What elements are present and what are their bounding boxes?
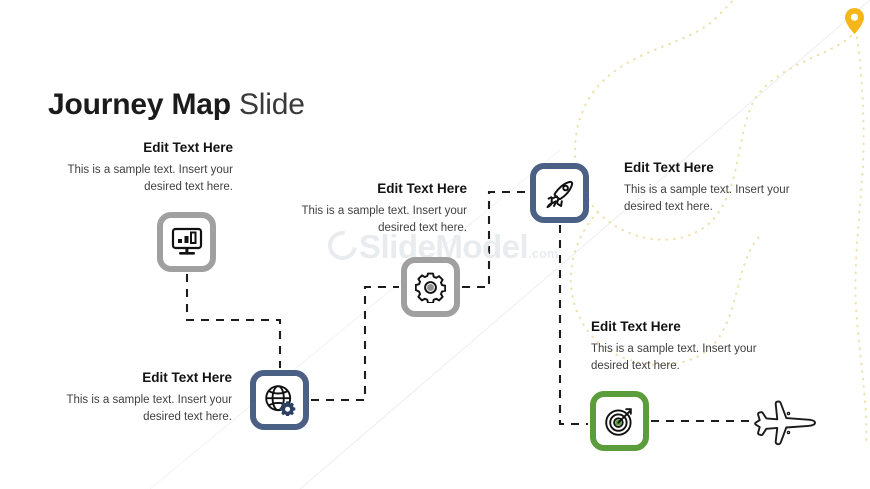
step-body: This is a sample text. Insert your desir… [40,392,232,425]
step-body: This is a sample text. Insert your desir… [624,182,804,215]
page-title-bold: Journey Map [48,88,231,121]
step-body: This is a sample text. Insert your desir… [28,162,233,195]
gear-icon [415,272,446,303]
page-title: Journey Map Slide [48,88,305,122]
journey-map-slide: SlideModel.com Journey Map Slide Edit Te… [0,0,870,489]
step-text-gear: Edit Text Here This is a sample text. In… [262,181,467,237]
step-heading: Edit Text Here [624,160,804,176]
step-heading: Edit Text Here [591,319,771,335]
step-heading: Edit Text Here [262,181,467,197]
step-icon-tile-rocket[interactable] [530,163,589,223]
step-body: This is a sample text. Insert your desir… [262,203,467,236]
step-heading: Edit Text Here [28,140,233,156]
step-text-rocket: Edit Text Here This is a sample text. In… [624,160,804,216]
watermark-domain: .com [528,246,558,261]
step-text-monitor: Edit Text Here This is a sample text. In… [28,140,233,196]
step-body: This is a sample text. Insert your desir… [591,341,771,374]
monitor-chart-icon [171,227,203,257]
globe-gear-icon [264,384,296,416]
step-icon-tile-target[interactable] [590,391,649,451]
page-title-light [231,88,239,121]
page-title-suffix: Slide [239,88,305,121]
step-icon-tile-gear[interactable] [401,257,460,317]
step-heading: Edit Text Here [40,370,232,386]
step-text-globe: Edit Text Here This is a sample text. In… [40,370,232,426]
step-text-target: Edit Text Here This is a sample text. In… [591,319,771,375]
target-arrow-icon [604,405,636,437]
step-icon-tile-monitor[interactable] [157,212,216,272]
location-pin-icon [845,8,864,34]
airplane-icon [752,400,818,446]
rocket-icon [544,177,576,209]
step-icon-tile-globe[interactable] [250,370,309,430]
